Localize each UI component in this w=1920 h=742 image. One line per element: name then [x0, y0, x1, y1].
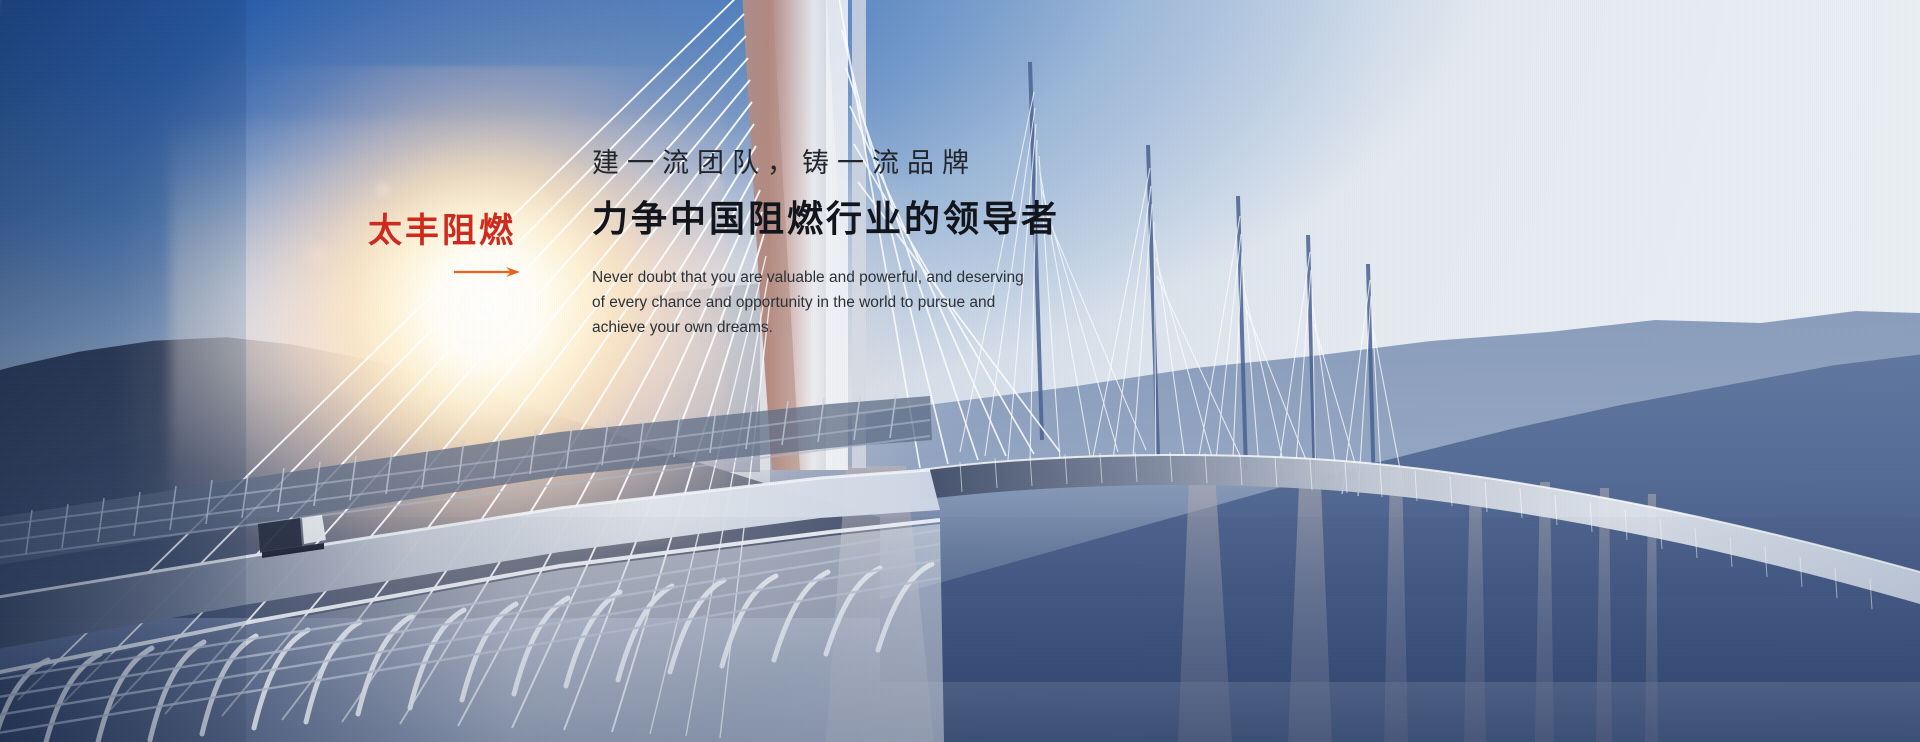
arrow-right-icon	[454, 266, 526, 278]
headline-subtitle: 建一流团队，铸一流品牌	[592, 150, 1232, 177]
banner-content: 太丰阻燃 建一流团队，铸一流品牌 力争中国阻燃行业的领导者 Never doub…	[0, 0, 1920, 742]
description-line-3: achieve your own dreams.	[592, 315, 1062, 340]
hero-banner: 太丰阻燃 建一流团队，铸一流品牌 力争中国阻燃行业的领导者 Never doub…	[0, 0, 1920, 742]
headline-description: Never doubt that you are valuable and po…	[592, 265, 1062, 340]
brand-logo[interactable]: 太丰阻燃	[368, 214, 548, 248]
headline-title: 力争中国阻燃行业的领导者	[592, 202, 1232, 238]
headline-group: 建一流团队，铸一流品牌 力争中国阻燃行业的领导者 Never doubt tha…	[592, 150, 1232, 340]
description-line-2: of every chance and opportunity in the w…	[592, 290, 1062, 315]
description-line-1: Never doubt that you are valuable and po…	[592, 265, 1062, 290]
brand-logo-text: 太丰阻燃	[368, 214, 548, 248]
